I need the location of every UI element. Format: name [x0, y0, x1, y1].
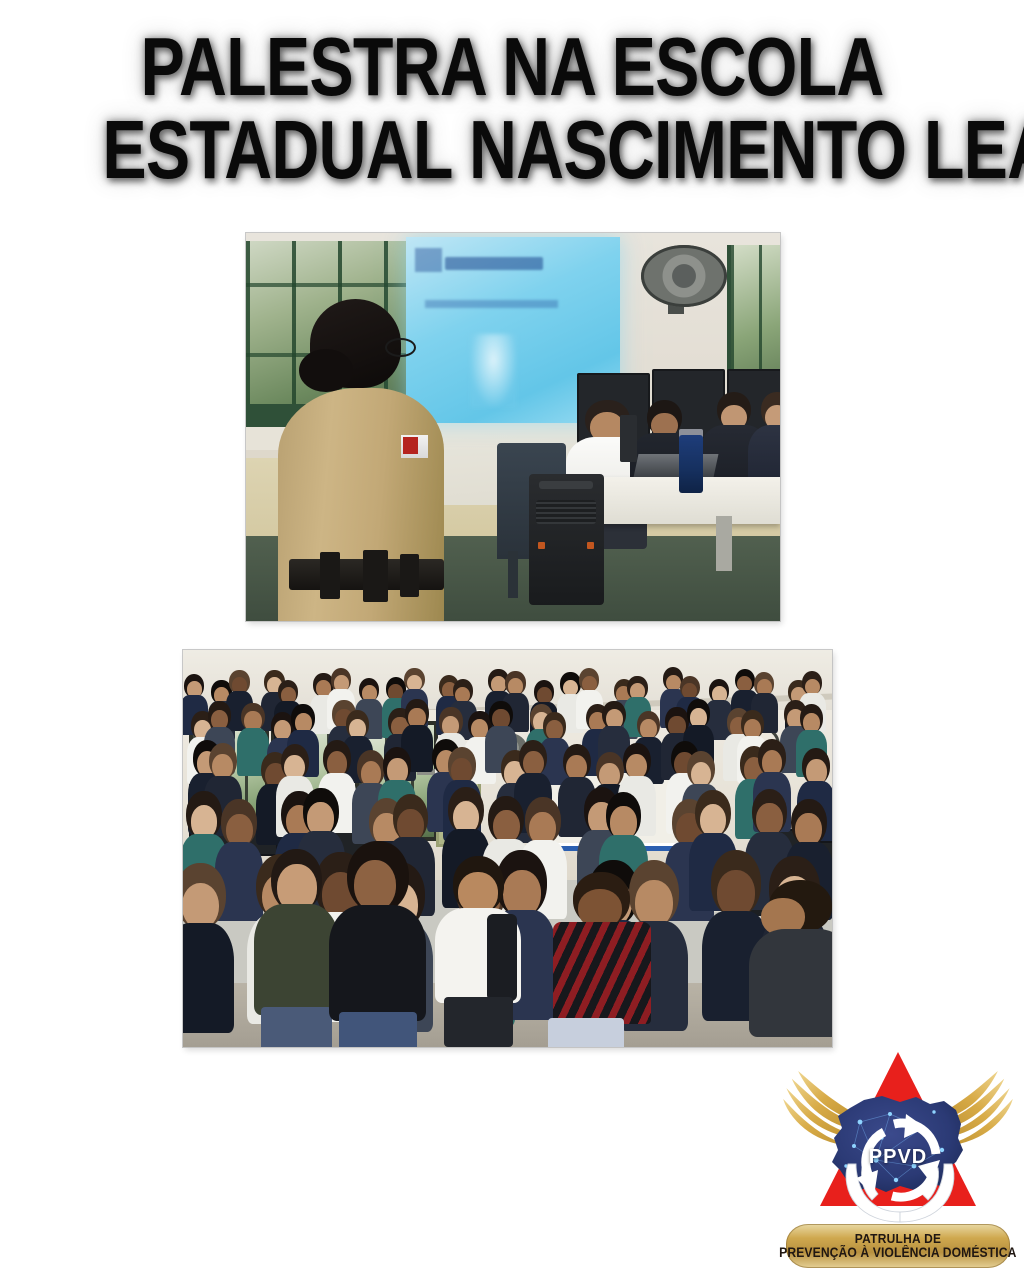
student-audience — [183, 650, 832, 904]
speaker-panel — [539, 481, 593, 489]
circular-arrows-icon — [848, 1108, 956, 1208]
water-bottle — [679, 435, 703, 493]
student — [183, 863, 228, 1030]
flag-patch-red — [403, 437, 418, 454]
belt-pouch — [400, 554, 419, 597]
student-jeans — [261, 1007, 332, 1047]
logo-banner-line-1: PATRULHA DE — [855, 1232, 942, 1246]
belt-pouch — [320, 552, 340, 599]
laptop — [633, 454, 718, 477]
student-shorts — [548, 1018, 624, 1047]
student-shorts — [444, 997, 513, 1047]
slide-heading — [445, 257, 543, 270]
ppvd-logo: PPVD PATRULHA DE PREVENÇÃO À VIOLÊNCIA D… — [782, 1042, 1014, 1270]
slide-figure — [470, 334, 517, 408]
wall-fan-icon — [641, 245, 726, 307]
page-title-line-1: PALESTRA NA ESCOLA — [102, 28, 921, 106]
student-shirt — [329, 905, 426, 1021]
belt-holster — [363, 550, 388, 603]
student-backpack — [487, 914, 517, 1002]
student-foreground — [443, 856, 514, 1047]
student-foreground — [559, 872, 643, 1047]
student-shirt — [183, 923, 234, 1033]
photo-1-scene — [246, 233, 780, 621]
photo-officer-presenting — [246, 233, 780, 621]
student-jeans — [339, 1012, 417, 1047]
chair-leg — [508, 551, 519, 598]
student-jersey — [553, 922, 651, 1024]
eyeglasses-icon — [385, 338, 416, 358]
hair-bun — [299, 349, 352, 392]
photo-2-scene — [183, 650, 832, 1047]
logo-banner-line-2: PREVENÇÃO À VIOLÊNCIA DOMÉSTICA — [779, 1246, 1016, 1260]
slide-logo — [415, 248, 443, 272]
slide-text-line — [425, 300, 557, 307]
page-title: PALESTRA NA ESCOLA ESTADUAL NASCIMENTO L… — [0, 28, 1024, 189]
student-foreground — [754, 880, 832, 1047]
thermos-flask — [620, 415, 637, 462]
student-face — [354, 860, 396, 911]
photo-audience-wide — [183, 650, 832, 1047]
page-title-line-2: ESTADUAL NASCIMENTO LEAL — [102, 111, 921, 189]
duty-belt — [289, 559, 444, 590]
student-shirt — [254, 904, 340, 1015]
student-foreground — [261, 849, 332, 1048]
speaker-indicator — [538, 542, 545, 549]
uniform-flag-patch — [401, 435, 428, 458]
student-foreground — [339, 841, 417, 1047]
student-shirt — [749, 929, 832, 1037]
speaker-indicator — [587, 542, 594, 549]
speaker-grill — [536, 500, 596, 524]
desk-leg — [716, 516, 732, 570]
logo-banner: PATRULHA DE PREVENÇÃO À VIOLÊNCIA DOMÉST… — [786, 1224, 1010, 1268]
speaker-box — [529, 474, 604, 606]
